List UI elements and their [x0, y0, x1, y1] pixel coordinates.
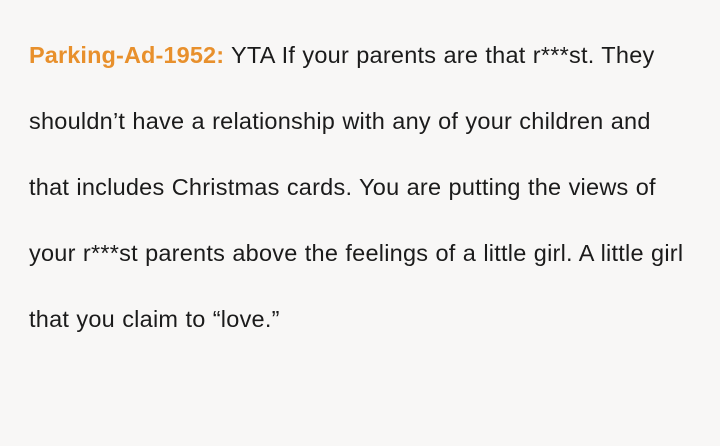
comment-paragraph: Parking-Ad-1952: YTA If your parents are… — [29, 22, 690, 352]
comment-card: Parking-Ad-1952: YTA If your parents are… — [0, 0, 720, 446]
comment-body-text: YTA If your parents are that r***st. The… — [29, 42, 683, 332]
comment-author-name[interactable]: Parking-Ad-1952: — [29, 42, 224, 68]
